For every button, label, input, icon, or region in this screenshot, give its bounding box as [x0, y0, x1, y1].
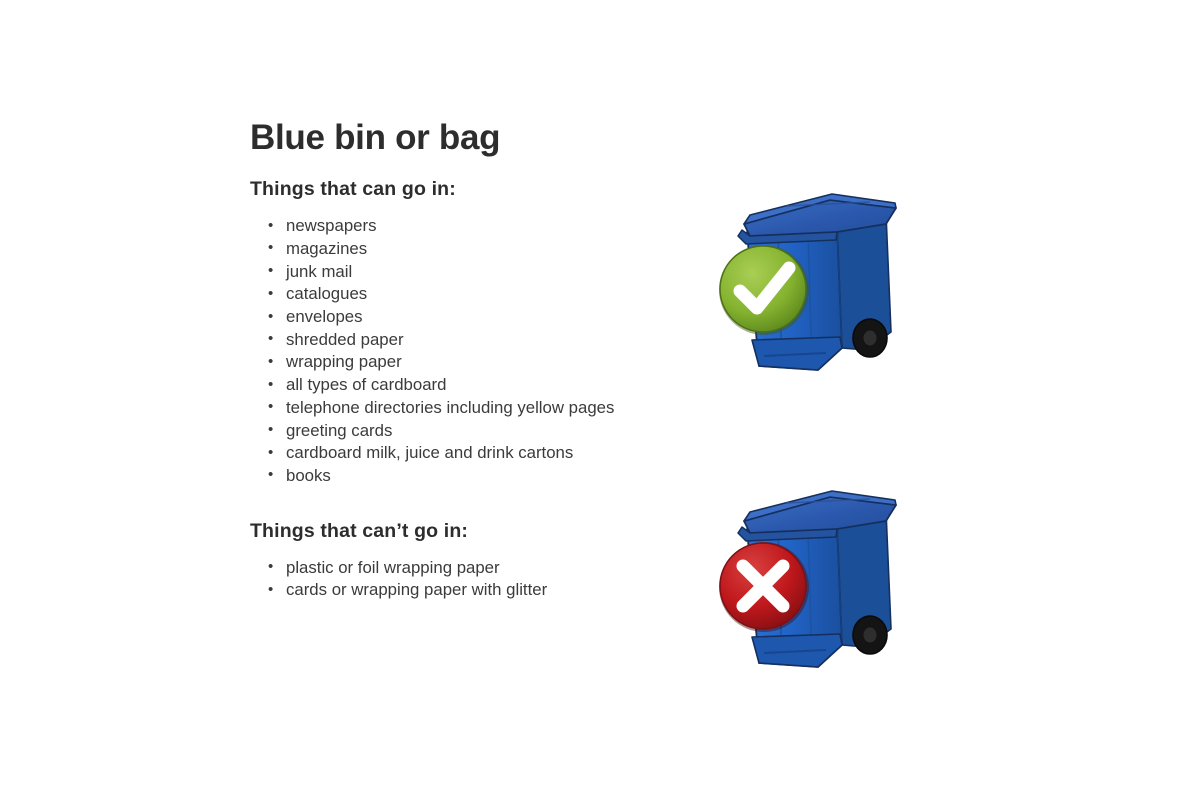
section-cannot-go-in: Things that can’t go in: plastic or foil… — [250, 520, 680, 602]
list-item: cardboard milk, juice and drink cartons — [268, 442, 680, 465]
page-title: Blue bin or bag — [250, 118, 680, 158]
check-badge-icon — [719, 245, 809, 335]
list-item: newspapers — [268, 215, 680, 238]
section-heading-cannot-go-in: Things that can’t go in: — [250, 520, 680, 543]
list-item: shredded paper — [268, 329, 680, 352]
content-column: Blue bin or bag Things that can go in: n… — [250, 118, 680, 602]
cross-badge-icon — [719, 542, 809, 632]
list-item: cards or wrapping paper with glitter — [268, 579, 680, 602]
list-item: wrapping paper — [268, 351, 680, 374]
list-can-go-in: newspapers magazines junk mail catalogue… — [250, 215, 680, 487]
illustration-bin-allowed — [690, 180, 920, 390]
list-item: telephone directories including yellow p… — [268, 397, 680, 420]
illustration-bin-not-allowed — [690, 477, 920, 687]
list-item: greeting cards — [268, 420, 680, 443]
section-heading-can-go-in: Things that can go in: — [250, 178, 680, 201]
list-item: junk mail — [268, 261, 680, 284]
list-item: magazines — [268, 238, 680, 261]
list-item: all types of cardboard — [268, 374, 680, 397]
list-item: books — [268, 465, 680, 488]
list-item: envelopes — [268, 306, 680, 329]
section-can-go-in: Things that can go in: newspapers magazi… — [250, 178, 680, 487]
list-cannot-go-in: plastic or foil wrapping paper cards or … — [250, 557, 680, 602]
list-item: catalogues — [268, 283, 680, 306]
page-root: Blue bin or bag Things that can go in: n… — [0, 0, 1200, 800]
list-item: plastic or foil wrapping paper — [268, 557, 680, 580]
